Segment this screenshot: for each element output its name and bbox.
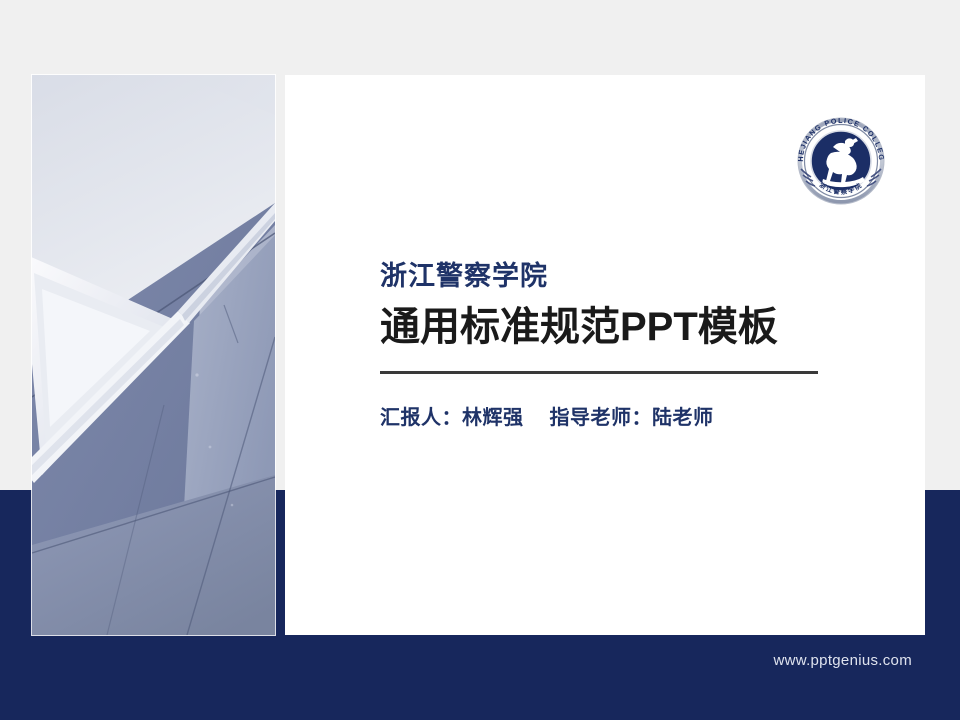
content-card: ZHEJIANG POLICE COLLEGE 浙江警察学院 浙江警察学院 通用… — [285, 75, 925, 635]
architecture-ceiling-photo — [32, 75, 275, 635]
title-divider — [380, 371, 818, 374]
footer-website-url[interactable]: www.pptgenius.com — [774, 652, 913, 669]
presenter-label: 汇报人：林辉强 — [380, 407, 524, 429]
presenter-credits: 汇报人：林辉强指导老师：陆老师 — [380, 401, 835, 430]
advisor-label: 指导老师：陆老师 — [550, 407, 714, 429]
zhejiang-police-college-emblem: ZHEJIANG POLICE COLLEGE 浙江警察学院 — [787, 107, 895, 215]
title-text-block: 浙江警察学院 通用标准规范PPT模板 汇报人：林辉强指导老师：陆老师 — [380, 260, 835, 430]
page-title: 通用标准规范PPT模板 — [380, 304, 835, 350]
organization-name: 浙江警察学院 — [380, 260, 835, 294]
presentation-slide: ZHEJIANG POLICE COLLEGE 浙江警察学院 浙江警察学院 通用… — [0, 0, 960, 720]
